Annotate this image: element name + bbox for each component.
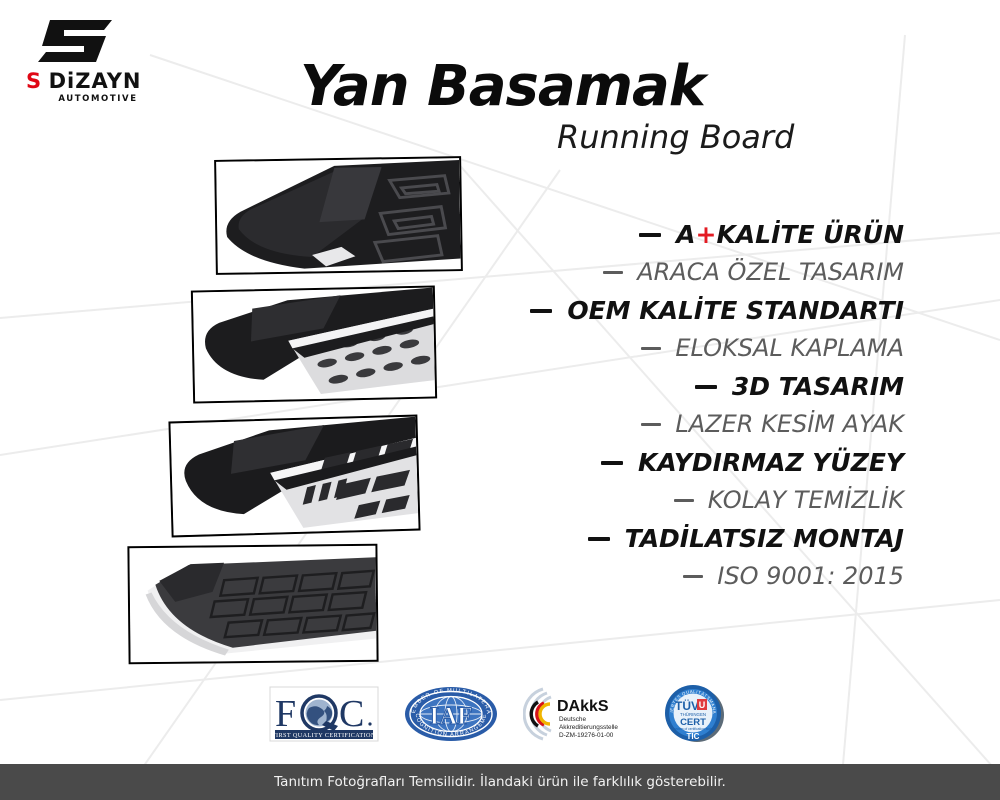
product-photo-4 xyxy=(127,544,378,665)
page-subtitle: Running Board xyxy=(557,118,794,156)
feature-item: A+KALİTE ÜRÜN xyxy=(639,222,904,247)
svg-text:F: F xyxy=(275,693,296,735)
product-photo-2 xyxy=(191,285,437,403)
feature-label: ISO 9001: 2015 xyxy=(717,564,904,588)
feature-item: ARACA ÖZEL TASARIM xyxy=(603,260,904,284)
cert-tuv: ZERTIFIZIERTES QUALITÄTSMANAGEMENT TÜV U… xyxy=(659,683,731,745)
product-photo-3 xyxy=(168,415,420,538)
bullet-dash-icon xyxy=(530,309,552,313)
disclaimer-text: Tanıtım Fotoğrafları Temsilidir. İlandak… xyxy=(274,774,726,790)
feature-item: OEM KALİTE STANDARTI xyxy=(530,298,904,323)
brand-accent-letter: S xyxy=(26,69,42,93)
brand-logo: S DiZAYN AUTOMOTIVE xyxy=(26,16,156,104)
fqc-icon: F C FIRST QUALITY CERTIFICATION xyxy=(269,686,379,742)
feature-label: OEM KALİTE STANDARTI xyxy=(567,298,904,323)
iaf-icon: IAF MEMBER OF MULTILATERAL RECOGNITION A… xyxy=(403,685,499,743)
feature-item: TADİLATSIZ MONTAJ xyxy=(588,526,904,551)
s-monogram-icon xyxy=(34,16,120,66)
brand-name: DiZAYN xyxy=(49,69,142,93)
svg-text:TIC: TIC xyxy=(687,732,700,741)
svg-text:TÜV: TÜV xyxy=(675,698,699,713)
bullet-dash-icon xyxy=(639,233,661,237)
dakks-icon: DAkkS Deutsche Akkreditierungsstelle D-Z… xyxy=(523,685,635,743)
cert-iaf: IAF MEMBER OF MULTILATERAL RECOGNITION A… xyxy=(403,683,499,745)
bullet-dash-icon xyxy=(588,537,610,541)
bullet-dash-icon xyxy=(683,575,703,578)
bullet-dash-icon xyxy=(641,423,661,426)
certification-logos: F C FIRST QUALITY CERTIFICATION xyxy=(0,682,1000,746)
feature-label: 3D TASARIM xyxy=(732,374,904,399)
svg-text:Akkreditierungsstelle: Akkreditierungsstelle xyxy=(559,724,618,731)
cert-fqc: F C FIRST QUALITY CERTIFICATION xyxy=(269,683,379,745)
cert-dakks: DAkkS Deutsche Akkreditierungsstelle D-Z… xyxy=(523,683,635,745)
svg-text:D-ZM-19276-01-00: D-ZM-19276-01-00 xyxy=(559,732,614,739)
feature-label: TADİLATSIZ MONTAJ xyxy=(625,526,904,551)
feature-label: KAYDIRMAZ YÜZEY xyxy=(638,450,904,475)
svg-text:Deutsche: Deutsche xyxy=(559,716,586,723)
brand-tagline: AUTOMOTIVE xyxy=(40,94,156,104)
feature-label: ARACA ÖZEL TASARIM xyxy=(637,260,904,284)
product-photo-1 xyxy=(214,156,463,275)
page-title: Yan Basamak xyxy=(300,54,705,119)
feature-item: 3D TASARIM xyxy=(695,374,904,399)
bullet-dash-icon xyxy=(695,385,717,389)
feature-item: KOLAY TEMİZLİK xyxy=(674,488,904,512)
feature-item: ELOKSAL KAPLAMA xyxy=(641,336,904,360)
bullet-dash-icon xyxy=(601,461,623,465)
feature-item: LAZER KESİM AYAK xyxy=(641,412,904,436)
feature-list: A+KALİTE ÜRÜN ARACA ÖZEL TASARIM OEM KAL… xyxy=(530,222,904,588)
bullet-dash-icon xyxy=(674,499,694,502)
feature-item: KAYDIRMAZ YÜZEY xyxy=(601,450,904,475)
bullet-dash-icon xyxy=(641,347,661,350)
tuv-cert-icon: ZERTIFIZIERTES QUALITÄTSMANAGEMENT TÜV U… xyxy=(659,683,731,745)
svg-text:U: U xyxy=(699,700,706,710)
feature-label: KOLAY TEMİZLİK xyxy=(708,488,904,512)
svg-text:IAF: IAF xyxy=(429,703,472,730)
feature-label: A+KALİTE ÜRÜN xyxy=(676,222,904,247)
feature-label: LAZER KESİM AYAK xyxy=(675,412,904,436)
disclaimer-bar: Tanıtım Fotoğrafları Temsilidir. İlandak… xyxy=(0,764,1000,800)
feature-item: ISO 9001: 2015 xyxy=(683,564,904,588)
svg-text:DAkkS: DAkkS xyxy=(557,698,609,715)
poster-canvas: S DiZAYN AUTOMOTIVE Yan Basamak Running … xyxy=(0,0,1000,800)
bullet-dash-icon xyxy=(603,271,623,274)
svg-text:system of certification body: system of certification body xyxy=(673,727,713,731)
svg-text:FIRST QUALITY CERTIFICATION: FIRST QUALITY CERTIFICATION xyxy=(272,732,376,739)
svg-text:C: C xyxy=(339,693,364,735)
feature-label: ELOKSAL KAPLAMA xyxy=(675,336,904,360)
